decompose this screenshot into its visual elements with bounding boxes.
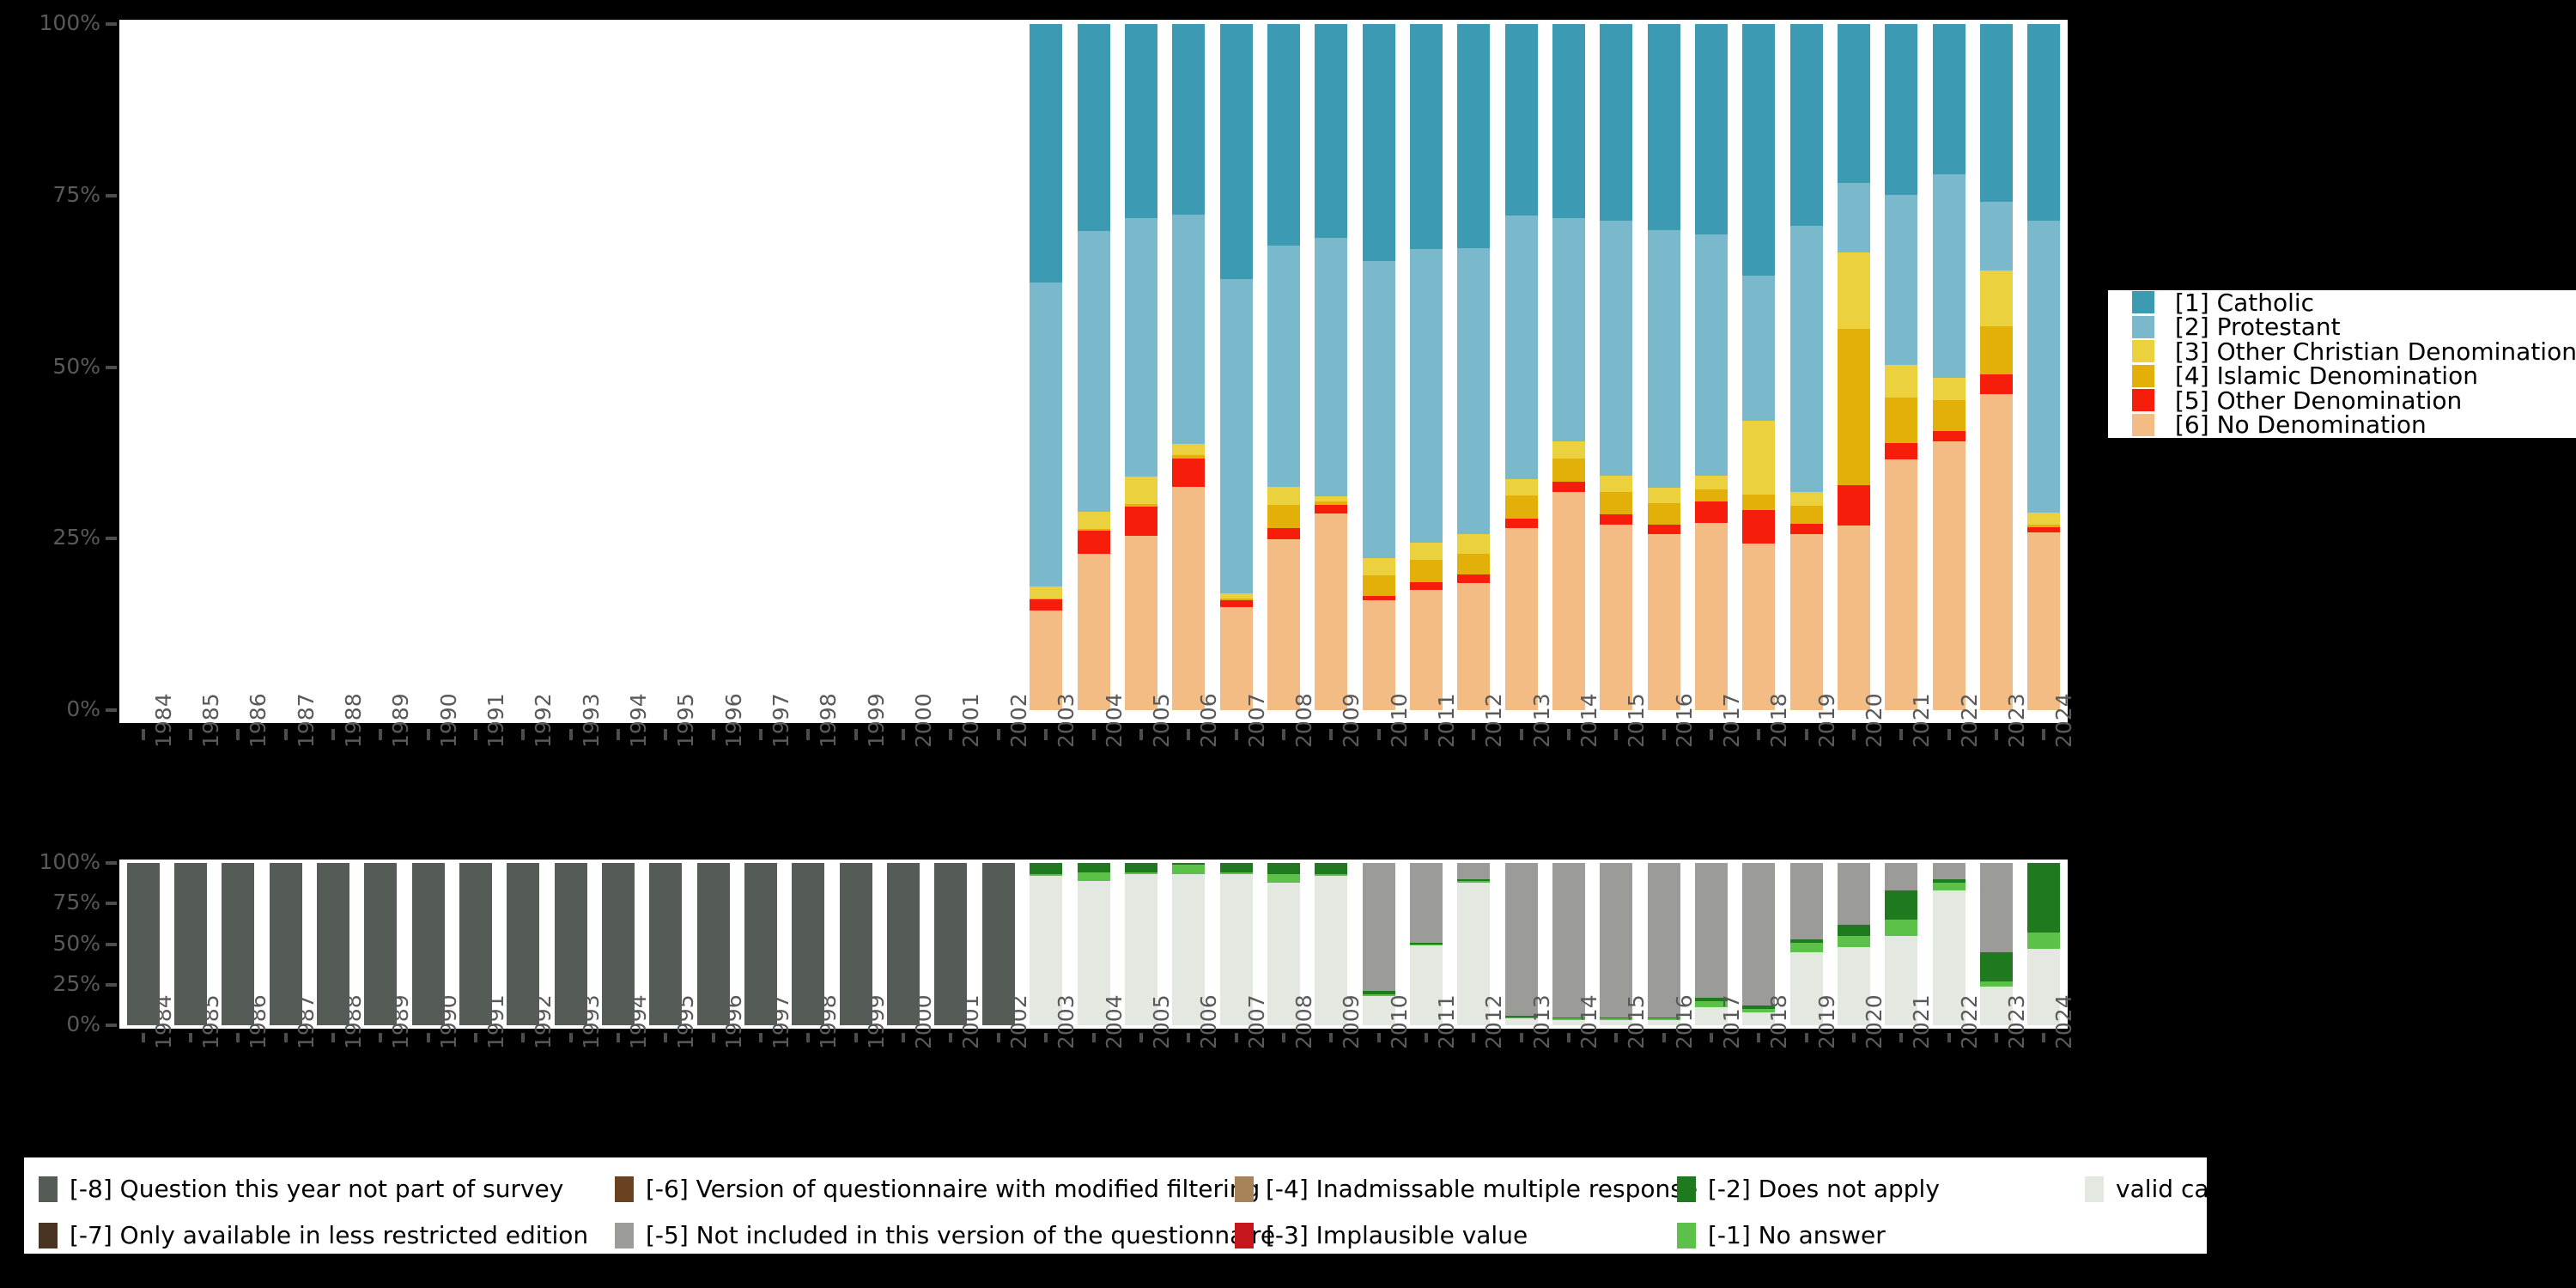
denomination-segment [1363,261,1395,559]
main-x-tick-mark [1044,729,1048,740]
denomination-segment [1505,495,1538,519]
legend-swatch-icon [1677,1223,1696,1249]
validity-x-tick-label: 1994 [626,994,651,1049]
validity-x-tick-mark [236,1033,240,1042]
validity-x-tick-label: 2011 [1434,994,1459,1049]
denomination-segment [1172,24,1205,215]
denomination-segment [1933,174,1965,378]
denomination-segment [1363,558,1395,574]
main-x-tick-label: 1992 [531,693,556,748]
legend-label: [-6] Version of questionnaire with modif… [646,1175,1260,1203]
main-x-tick-label: 2020 [1862,693,1886,748]
legend-item-validity[interactable]: [-4] Inadmissable multiple response [1235,1175,1698,1203]
main-x-tick-label: 2011 [1434,693,1459,748]
validity-segment [1220,863,1253,872]
validity-x-tick-mark [427,1033,430,1042]
denomination-segment [1267,539,1300,710]
validity-x-tick-mark [1139,1033,1143,1042]
main-x-tick-label: 2019 [1814,693,1839,748]
validity-x-tick-mark [1282,1033,1285,1042]
validity-x-tick-mark [331,1033,335,1042]
denomination-segment [1790,534,1823,710]
main-x-tick-label: 2012 [1481,693,1506,748]
validity-x-tick-mark [1329,1033,1333,1042]
main-x-tick-label: 1989 [388,693,413,748]
main-x-tick-label: 2015 [1624,693,1649,748]
validity-segment [1410,943,1443,945]
validity-segment [1885,863,1917,890]
denomination-segment [1030,24,1062,283]
validity-x-tick-label: 2020 [1862,994,1886,1049]
denomination-segment [1600,221,1632,475]
denomination-segment [1172,459,1205,488]
main-x-tick-label: 1985 [198,693,223,748]
denomination-segment [1695,476,1728,489]
denomination-segment [1790,492,1823,506]
legend-item-denomination[interactable]: [3] Other Christian Denomination [2108,339,2576,364]
denomination-segment [1933,378,1965,400]
denomination-segment [1172,215,1205,444]
main-x-tick-label: 2010 [1387,693,1412,748]
denomination-segment [1267,24,1300,246]
denomination-segment [1552,441,1585,459]
denomination-segment [1790,226,1823,492]
validity-x-tick-mark [1662,1033,1666,1042]
legend-label: [-5] Not included in this version of the… [646,1221,1275,1249]
main-x-tick-label: 2005 [1149,693,1174,748]
denomination-bar [1742,24,1775,710]
main-x-tick-mark [1139,729,1143,740]
legend-swatch-icon [2132,316,2154,338]
denomination-segment [1933,441,1965,710]
validity-x-tick-mark [1614,1033,1618,1042]
validity-x-tick-label: 2002 [1006,994,1031,1049]
validity-x-tick-label: 2001 [958,994,983,1049]
main-x-tick-mark [1710,729,1713,740]
main-y-tick-mark [106,22,117,26]
denomination-bar [1125,24,1157,710]
legend-swatch-icon [39,1223,58,1249]
main-x-tick-mark [1520,729,1523,740]
denomination-segment [1220,600,1253,607]
validity-x-tick-label: 1992 [531,994,556,1049]
denomination-segment [1838,485,1870,526]
validity-x-tick-mark [1044,1033,1048,1042]
legend-swatch-icon [2132,389,2154,411]
denomination-bar [1267,24,1300,710]
denomination-segment [1552,218,1585,441]
denomination-segment [1457,554,1490,574]
denomination-segment [1838,24,1870,183]
denomination-segment [1410,582,1443,591]
validity-x-tick-label: 2022 [1957,994,1982,1049]
validity-segment [1363,863,1395,991]
main-x-tick-label: 2024 [2051,693,2076,748]
denomination-bar [1505,24,1538,710]
denomination-segment [1600,24,1632,221]
validity-x-tick-mark [1852,1033,1856,1042]
validity-x-tick-label: 2018 [1766,994,1791,1049]
validity-x-tick-label: 2023 [2004,994,2029,1049]
validity-segment [1790,943,1823,952]
denomination-segment [1457,583,1490,710]
legend-label: [6] No Denomination [2175,410,2427,439]
legend-item-denomination[interactable]: [4] Islamic Denomination [2108,364,2576,389]
main-x-tick-label: 2014 [1577,693,1601,748]
validity-x-tick-mark [1092,1033,1096,1042]
validity-segment [1172,863,1205,865]
legend-swatch-icon [1235,1176,1254,1202]
denomination-segment [1172,455,1205,459]
legend-label: [-4] Inadmissable multiple response [1266,1175,1698,1203]
validity-x-tick-mark [854,1033,858,1042]
main-x-tick-label: 2017 [1719,693,1744,748]
denomination-segment [1980,394,2013,710]
main-x-tick-mark [712,729,715,740]
denomination-segment [1457,534,1490,553]
denomination-segment [1078,531,1110,553]
main-x-tick-label: 1987 [294,693,319,748]
main-x-tick-mark [331,729,335,740]
validity-segment [1838,863,1870,925]
validity-x-tick-label: 2024 [2051,994,2076,1049]
main-x-tick-label: 2021 [1909,693,1934,748]
denomination-segment [1838,329,1870,485]
validity-x-tick-label: 2021 [1909,994,1934,1049]
main-x-tick-label: 2007 [1244,693,1269,748]
denomination-segment [1315,501,1347,505]
validity-x-tick-label: 1985 [198,994,223,1049]
main-x-tick-mark [1757,729,1760,740]
denomination-segment [1600,492,1632,514]
legend-item-denomination[interactable]: [1] Catholic [2108,290,2576,315]
denomination-segment [2027,527,2060,532]
denomination-segment [1695,489,1728,501]
denomination-segment [1267,487,1300,505]
denomination-segment [1505,216,1538,479]
main-x-tick-label: 2016 [1672,693,1697,748]
validity-segment [1695,863,1728,998]
denomination-segment [1267,246,1300,487]
legend-label: [-1] No answer [1708,1221,1886,1249]
denomination-bar [1552,24,1585,710]
main-x-tick-mark [1425,729,1428,740]
validity-x-tick-mark [189,1033,192,1042]
main-y-tick-mark [106,366,117,369]
denomination-segment [1078,529,1110,531]
denomination-bar [2027,24,2060,710]
main-x-tick-label: 2004 [1102,693,1127,748]
denomination-segment [1505,479,1538,495]
validity-x-tick-label: 2012 [1481,994,1506,1049]
denomination-segment [1220,24,1253,279]
denomination-bar [1600,24,1632,710]
main-x-tick-label: 1990 [436,693,461,748]
main-x-tick-label: 2003 [1054,693,1078,748]
denomination-segment [1125,536,1157,710]
denomination-segment [1980,270,2013,327]
denomination-segment [1030,586,1062,598]
main-x-tick-mark [521,729,525,740]
validity-segment [2027,863,2060,933]
legend-item-denomination[interactable]: [2] Protestant [2108,315,2576,340]
denomination-segment [1742,24,1775,276]
legend-item-validity[interactable]: [-3] Implausible value [1235,1221,1528,1249]
main-x-tick-mark [427,729,430,740]
denomination-segment [1410,590,1443,710]
validity-x-tick-mark [474,1033,477,1042]
validity-y-tick-label: 50% [52,931,100,956]
denomination-bar [1078,24,1110,710]
denomination-segment [1648,503,1680,526]
denomination-segment [1457,24,1490,248]
denomination-segment [1600,514,1632,525]
denomination-segment [1410,249,1443,543]
denomination-segment [1933,431,1965,441]
denomination-segment [1315,496,1347,501]
main-x-tick-mark [854,729,858,740]
denomination-segment [1600,525,1632,710]
main-y-tick-mark [106,537,117,540]
legend-item-validity[interactable]: [-2] Does not apply [1677,1175,1940,1203]
denomination-segment [1600,476,1632,492]
legend-swatch-icon [2132,414,2154,436]
legend-item-validity[interactable]: [-6] Version of questionnaire with modif… [615,1175,1260,1203]
main-x-tick-label: 2009 [1339,693,1364,748]
denomination-segment [1505,24,1538,216]
main-x-tick-mark [1852,729,1856,740]
main-x-tick-mark [379,729,382,740]
main-x-tick-mark [1805,729,1808,740]
validity-x-tick-mark [1947,1033,1951,1042]
validity-x-tick-label: 1995 [673,994,698,1049]
denomination-segment [1363,24,1395,261]
denomination-bar [1315,24,1347,710]
validity-x-tick-label: 2015 [1624,994,1649,1049]
denomination-bar [1695,24,1728,710]
denomination-segment [1838,252,1870,329]
validity-y-tick-mark [106,943,117,946]
denomination-segment [1410,24,1443,249]
denomination-legend: [1] Catholic[2] Protestant[3] Other Chri… [2108,290,2576,438]
validity-x-tick-mark [1235,1033,1238,1042]
validity-x-tick-mark [142,1033,145,1042]
denomination-segment [1078,554,1110,710]
validity-x-tick-label: 2007 [1244,994,1269,1049]
validity-segment [1267,863,1300,874]
denomination-segment [2027,525,2060,527]
main-x-tick-mark [617,729,620,740]
main-x-tick-label: 2001 [958,693,983,748]
denomination-segment [1410,560,1443,582]
denomination-bar [1030,24,1062,710]
validity-x-tick-label: 2006 [1196,994,1221,1049]
denomination-segment [1457,248,1490,534]
denomination-segment [1457,574,1490,583]
main-x-tick-mark [1235,729,1238,740]
denomination-bar [1648,24,1680,710]
denomination-segment [1552,492,1585,710]
denomination-segment [1838,526,1870,710]
legend-item-validity[interactable]: [-8] Question this year not part of surv… [39,1175,563,1203]
main-x-tick-label: 2018 [1766,693,1791,748]
legend-label: [-3] Implausible value [1266,1221,1528,1249]
main-x-tick-mark [1092,729,1096,740]
main-y-tick-mark [106,194,117,197]
main-x-tick-label: 2006 [1196,693,1221,748]
validity-y-tick-mark [106,983,117,987]
main-y-tick-label: 100% [39,10,100,35]
validity-x-tick-mark [1757,1033,1760,1042]
validity-x-tick-label: 1997 [769,994,793,1049]
validity-segment [1933,879,1965,883]
legend-item-validity[interactable]: valid cases [2085,1175,2249,1203]
legend-swatch-icon [1677,1176,1696,1202]
validity-x-tick-label: 1999 [864,994,889,1049]
legend-item-validity[interactable]: [-7] Only available in less restricted e… [39,1221,588,1249]
main-x-tick-label: 2008 [1291,693,1316,748]
legend-label: [-2] Does not apply [1708,1175,1940,1203]
denomination-segment [1172,487,1205,710]
denomination-segment [1980,374,2013,395]
validity-x-tick-mark [1899,1033,1903,1042]
validity-x-tick-mark [997,1033,1000,1042]
main-y-tick-mark [106,708,117,712]
denomination-segment [1220,279,1253,593]
main-x-tick-label: 1998 [816,693,841,748]
validity-segment [1030,874,1062,876]
legend-item-validity[interactable]: [-1] No answer [1677,1221,1886,1249]
denomination-segment [1078,24,1110,231]
legend-swatch-icon [2132,291,2154,313]
main-x-tick-mark [1947,729,1951,740]
validity-x-tick-mark [521,1033,525,1042]
denomination-segment [1695,523,1728,710]
validity-x-tick-label: 1986 [246,994,270,1049]
validity-x-tick-mark [1377,1033,1381,1042]
validity-segment [1410,863,1443,943]
denomination-segment [1220,598,1253,600]
validity-x-tick-label: 1991 [483,994,508,1049]
validity-x-tick-mark [569,1033,573,1042]
denomination-segment [1125,477,1157,504]
main-x-tick-mark [664,729,667,740]
denomination-segment [1125,504,1157,507]
validity-x-tick-label: 1988 [341,994,366,1049]
denomination-segment [1552,482,1585,492]
validity-x-tick-label: 2017 [1719,994,1744,1049]
denomination-segment [1030,283,1062,586]
main-x-tick-label: 1991 [483,693,508,748]
validity-segment [1980,981,2013,987]
validity-y-tick-mark [106,902,117,905]
validity-x-tick-label: 1990 [436,994,461,1049]
denomination-segment [1980,24,2013,202]
validity-x-tick-label: 1984 [151,994,176,1049]
denomination-segment [1885,398,1917,443]
denomination-bar [1790,24,1823,710]
validity-segment [1885,920,1917,936]
denomination-bar [1363,24,1395,710]
denomination-segment [1648,230,1680,488]
validity-x-tick-label: 2000 [911,994,936,1049]
validity-x-tick-mark [2042,1033,2045,1042]
validity-x-tick-label: 2013 [1529,994,1554,1049]
validity-x-tick-mark [949,1033,952,1042]
denomination-bar [1220,24,1253,710]
validity-segment [1457,879,1490,881]
validity-segment [1315,874,1347,876]
denomination-segment [2027,513,2060,525]
validity-x-tick-mark [1425,1033,1428,1042]
denomination-segment [1838,183,1870,252]
main-x-tick-mark [236,729,240,740]
main-x-tick-mark [142,729,145,740]
main-x-tick-label: 1996 [721,693,746,748]
denomination-segment [1505,528,1538,710]
denomination-segment [1742,510,1775,544]
denomination-segment [1172,444,1205,455]
validity-segment [1410,945,1443,946]
validity-segment [1315,863,1347,874]
denomination-segment [1315,513,1347,710]
denomination-segment [1315,24,1347,238]
main-x-tick-mark [1662,729,1666,740]
denomination-bar [1980,24,2013,710]
validity-x-tick-mark [379,1033,382,1042]
denomination-segment [1885,365,1917,398]
validity-segment [1838,936,1870,947]
validity-segment [1267,874,1300,882]
denomination-segment [2027,221,2060,513]
legend-swatch-icon [615,1223,634,1249]
chart-page: 100%75%50%25%0% 198419851986198719881989… [0,0,2576,1288]
denomination-segment [1980,326,2013,374]
main-x-tick-mark [569,729,573,740]
validity-segment [1030,863,1062,874]
denomination-segment [1030,599,1062,611]
legend-item-denomination[interactable]: [6] No Denomination [2108,413,2576,438]
denomination-bar [1838,24,1870,710]
validity-x-tick-label: 2003 [1054,994,1078,1049]
main-x-tick-label: 1999 [864,693,889,748]
main-y-tick-label: 0% [66,696,100,721]
denomination-segment [1315,238,1347,495]
main-x-tick-mark [997,729,1000,740]
validity-x-tick-label: 2016 [1672,994,1697,1049]
validity-x-tick-mark [1187,1033,1190,1042]
validity-y-tick-label: 0% [66,1012,100,1036]
denomination-segment [1410,543,1443,560]
legend-item-denomination[interactable]: [5] Other Denomination [2108,388,2576,413]
validity-segment [1980,952,2013,981]
validity-segment [1885,890,1917,920]
legend-label: [-8] Question this year not part of surv… [70,1175,563,1203]
main-x-tick-label: 2013 [1529,693,1554,748]
validity-x-tick-mark [1710,1033,1713,1042]
legend-swatch-icon [2132,365,2154,387]
denomination-segment [1078,231,1110,512]
main-x-tick-mark [1472,729,1475,740]
legend-label: [-7] Only available in less restricted e… [70,1221,588,1249]
main-x-tick-label: 2022 [1957,693,1982,748]
legend-item-validity[interactable]: [-5] Not included in this version of the… [615,1221,1275,1249]
legend-swatch-icon [615,1176,634,1202]
denomination-segment [1742,276,1775,421]
denomination-segment [1125,507,1157,536]
legend-swatch-icon [2085,1176,2104,1202]
denomination-segment [1220,593,1253,598]
